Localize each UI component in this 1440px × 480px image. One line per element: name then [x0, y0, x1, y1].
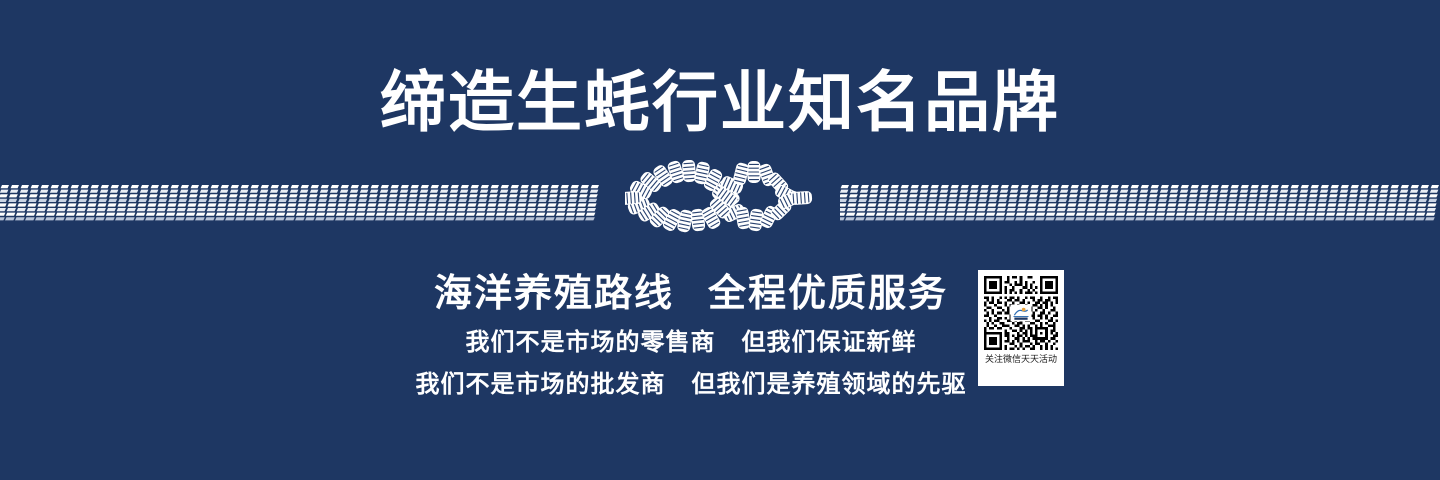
qr-code-image[interactable] — [984, 276, 1058, 350]
page-title: 缔造生蚝行业知名品牌 — [0, 68, 1440, 137]
tagline-row-2: 我们不是市场的批发商但我们是养殖领域的先驱 — [0, 364, 1440, 399]
rope-knot-divider — [0, 178, 1440, 224]
qr-caption: 关注微信天天活动 — [985, 354, 1057, 367]
tagline-row-1: 我们不是市场的零售商但我们保证新鲜 — [0, 322, 1440, 357]
qr-code-card[interactable]: 关注微信天天活动 — [978, 270, 1064, 386]
subtitle: 海洋养殖路线全程优质服务 — [0, 262, 1440, 317]
tagline-1-left: 我们不是市场的零售商 — [466, 328, 716, 356]
tagline-2-right: 但我们是养殖领域的先驱 — [692, 370, 967, 398]
promo-banner: 缔造生蚝行业知名品牌 — [0, 0, 1440, 480]
rope-strand-left-icon — [0, 178, 600, 224]
rope-strand-right-icon — [840, 178, 1440, 224]
tagline-1-right: 但我们保证新鲜 — [742, 328, 917, 356]
brand-logo-icon — [1011, 305, 1032, 322]
subtitle-left: 海洋养殖路线 — [434, 271, 674, 315]
subtitle-right: 全程优质服务 — [708, 271, 948, 315]
rope-knot-icon — [625, 160, 815, 244]
tagline-2-left: 我们不是市场的批发商 — [416, 370, 666, 398]
